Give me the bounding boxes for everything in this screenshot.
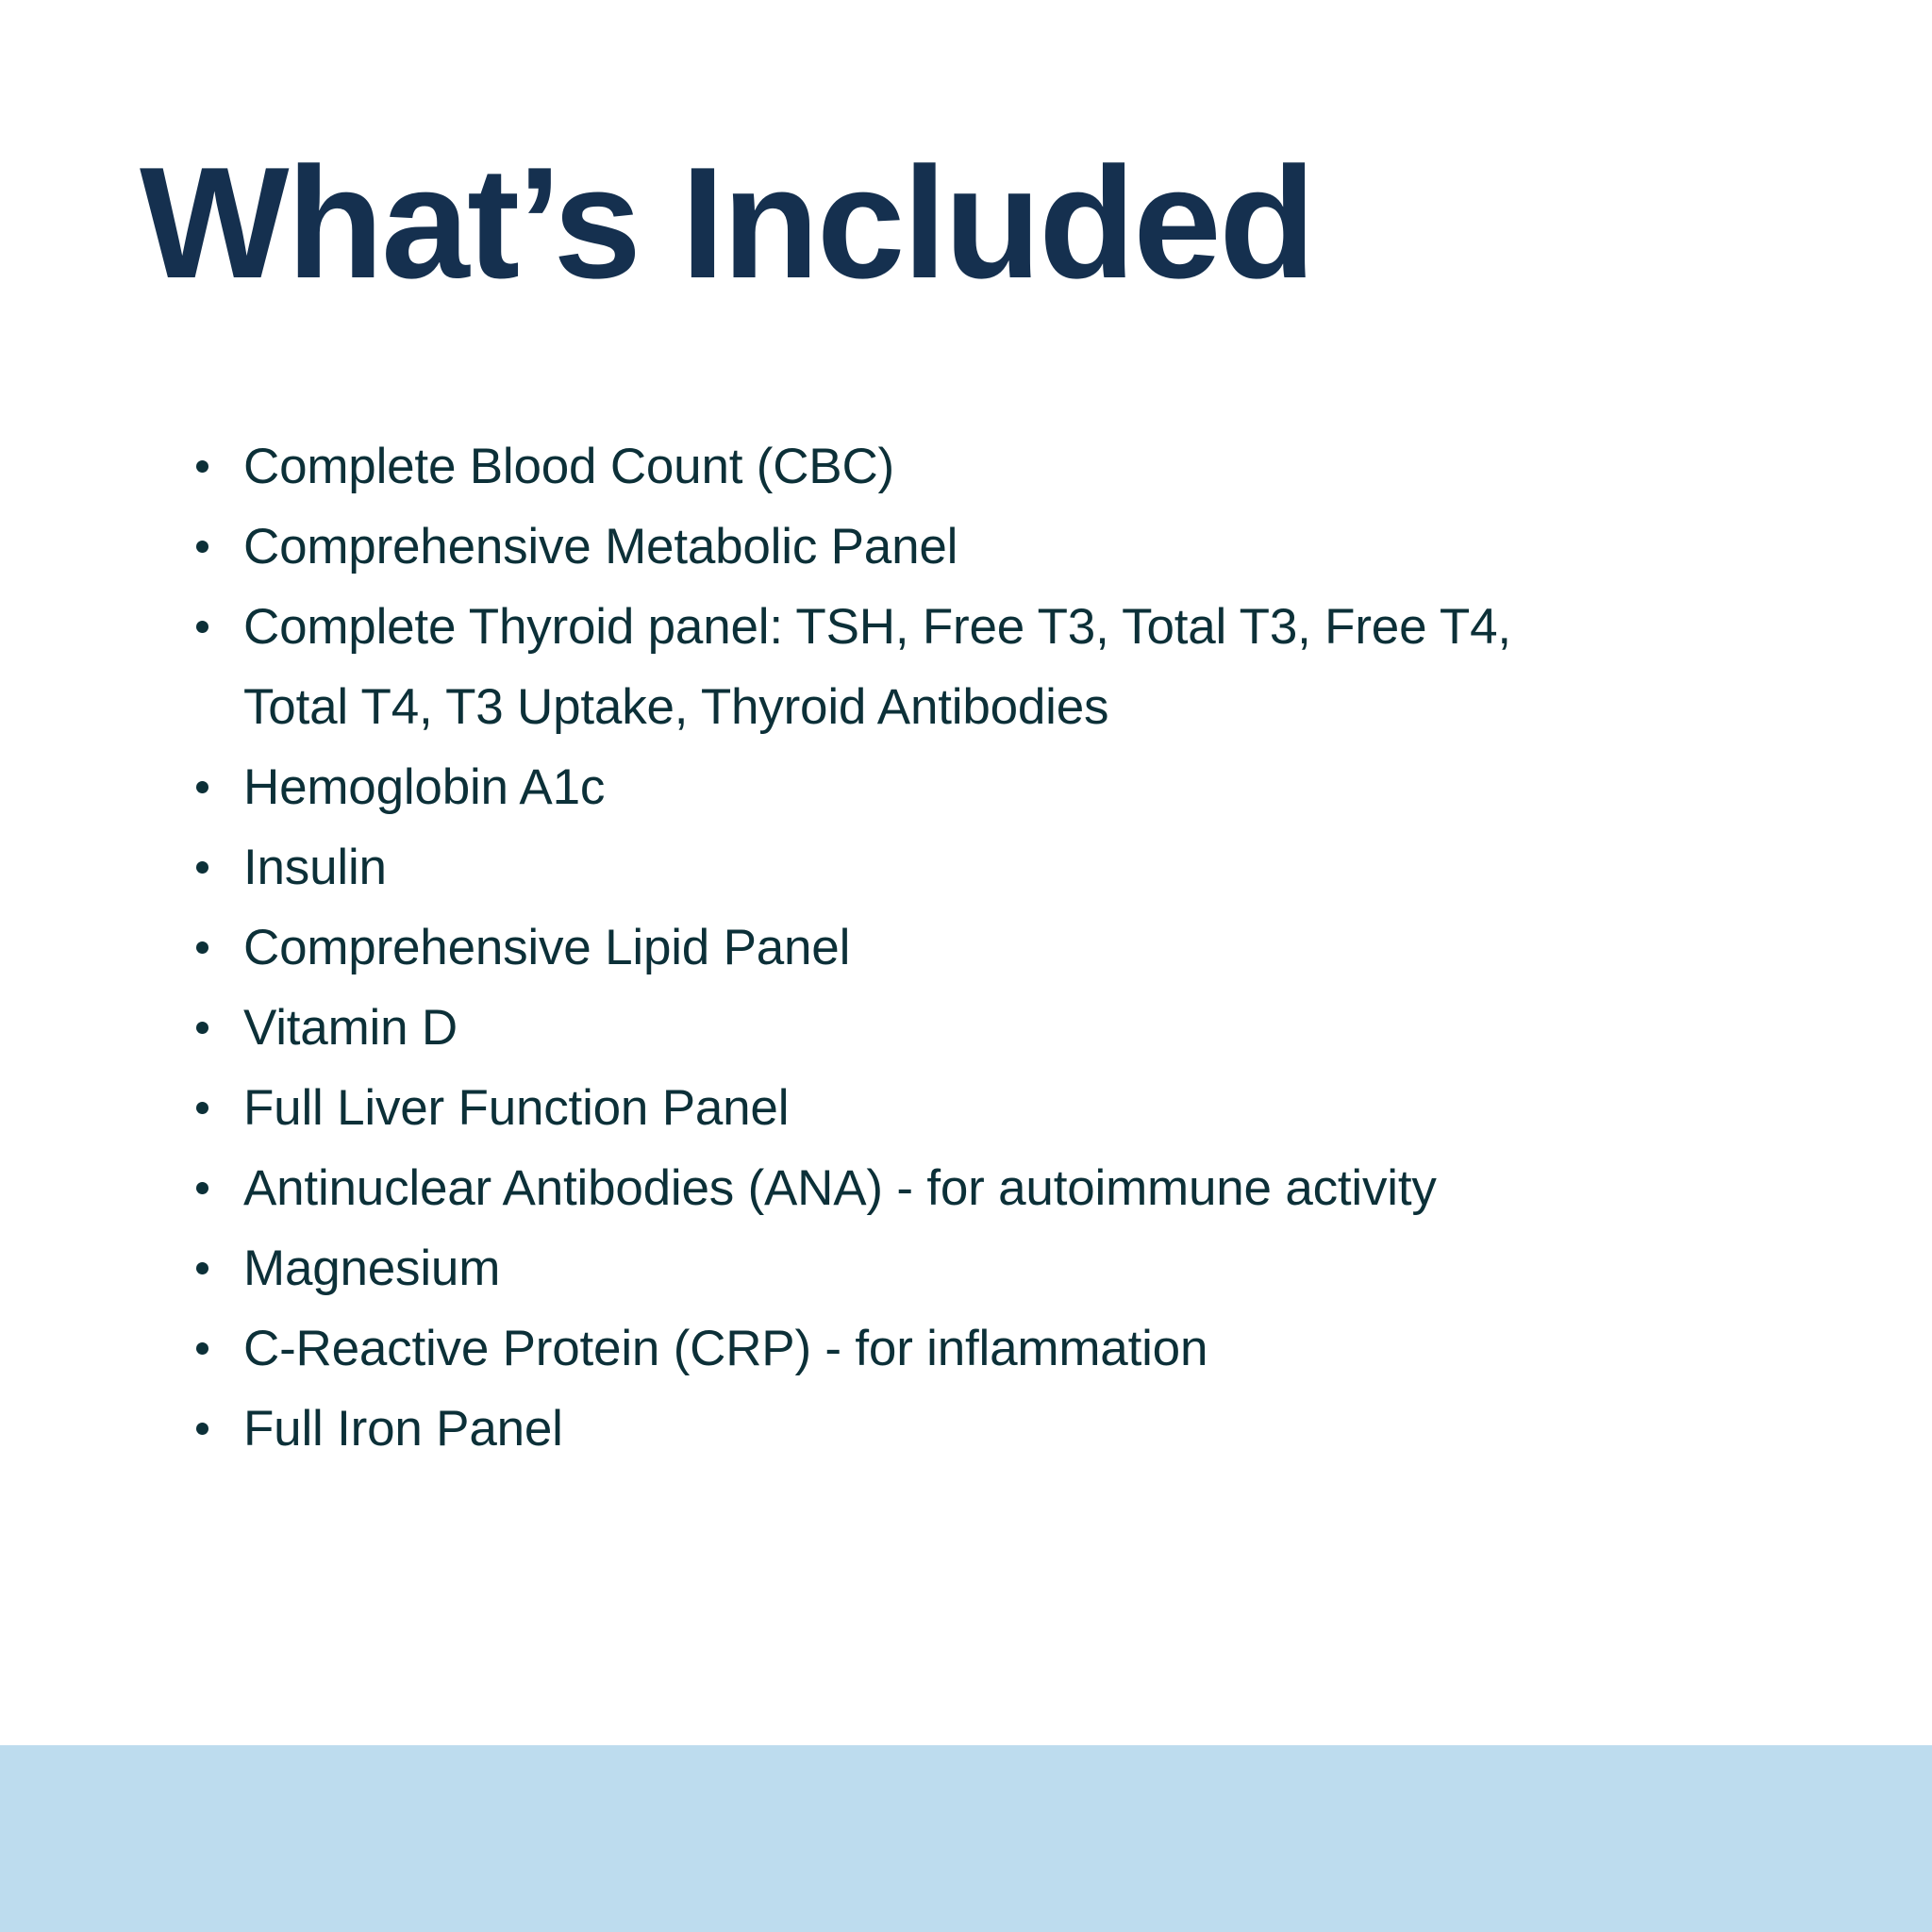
bullet-dot-icon <box>196 541 208 553</box>
bullet-dot-icon <box>196 460 208 473</box>
list-item-label: Full Liver Function Panel <box>243 1068 1789 1148</box>
list-item-label: Hemoglobin A1c <box>243 747 1789 827</box>
bullet-dot-icon <box>196 621 208 633</box>
list-item: Complete Blood Count (CBC) <box>185 426 1789 507</box>
bullet-dot-icon <box>196 1102 208 1114</box>
list-item-label: Comprehensive Lipid Panel <box>243 908 1789 988</box>
bullet-dot-icon <box>196 781 208 793</box>
bullet-dot-icon <box>196 941 208 954</box>
list-item: Hemoglobin A1c <box>185 747 1789 827</box>
bottom-accent-band <box>0 1745 1932 1932</box>
list-item-label: Full Iron Panel <box>243 1389 1789 1469</box>
bullet-dot-icon <box>196 1262 208 1274</box>
list-item-label: C-Reactive Protein (CRP) - for inflammat… <box>243 1308 1789 1389</box>
included-items-list: Complete Blood Count (CBC)Comprehensive … <box>185 426 1789 1469</box>
list-item: Insulin <box>185 827 1789 908</box>
bullet-dot-icon <box>196 1423 208 1435</box>
bullet-dot-icon <box>196 861 208 874</box>
list-item-label: Magnesium <box>243 1228 1789 1308</box>
page-title: What’s Included <box>140 143 1313 302</box>
bullet-dot-icon <box>196 1342 208 1355</box>
slide-canvas: What’s Included Complete Blood Count (CB… <box>0 0 1932 1932</box>
list-item: Full Liver Function Panel <box>185 1068 1789 1148</box>
list-item: Vitamin D <box>185 988 1789 1068</box>
list-item: Complete Thyroid panel: TSH, Free T3, To… <box>185 587 1583 747</box>
list-item: Full Iron Panel <box>185 1389 1789 1469</box>
list-item-label: Insulin <box>243 827 1789 908</box>
list-item: Antinuclear Antibodies (ANA) - for autoi… <box>185 1148 1470 1228</box>
list-item-label: Comprehensive Metabolic Panel <box>243 507 1789 587</box>
list-item: Comprehensive Metabolic Panel <box>185 507 1789 587</box>
list-item-label: Vitamin D <box>243 988 1789 1068</box>
list-item: Comprehensive Lipid Panel <box>185 908 1789 988</box>
list-item-label: Complete Thyroid panel: TSH, Free T3, To… <box>243 587 1583 747</box>
list-item-label: Antinuclear Antibodies (ANA) - for autoi… <box>243 1148 1470 1228</box>
bullet-dot-icon <box>196 1022 208 1034</box>
bullet-dot-icon <box>196 1182 208 1194</box>
list-item-label: Complete Blood Count (CBC) <box>243 426 1789 507</box>
list-item: C-Reactive Protein (CRP) - for inflammat… <box>185 1308 1789 1389</box>
list-item: Magnesium <box>185 1228 1789 1308</box>
